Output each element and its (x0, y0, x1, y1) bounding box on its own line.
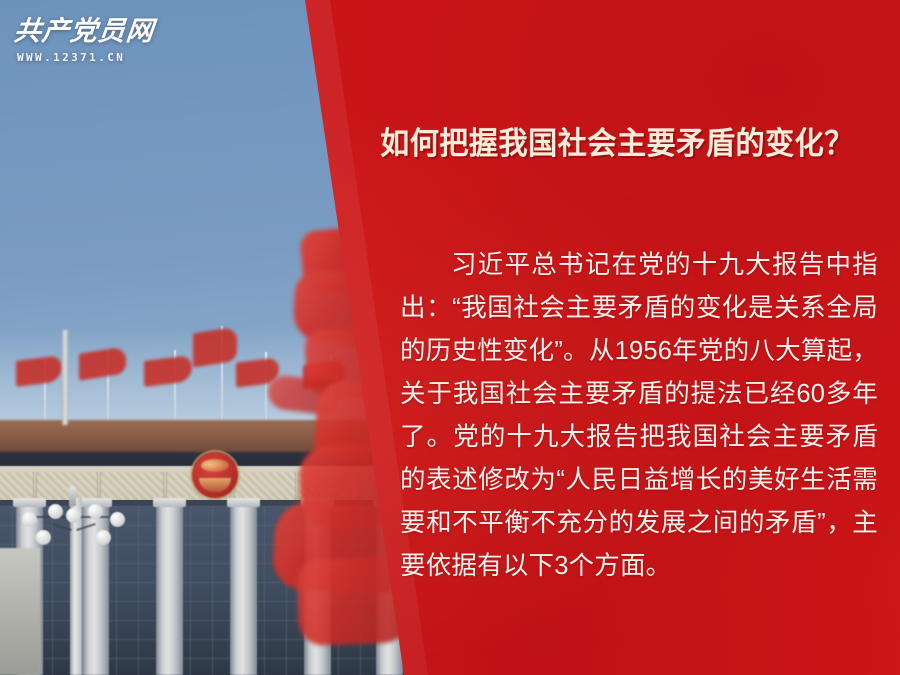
street-lamp-icon (22, 496, 132, 546)
site-logo-name: 共产党员网 (13, 18, 156, 45)
building-podium (0, 548, 40, 675)
site-logo[interactable]: 共产党员网 WWW.12371.CN (14, 18, 154, 63)
poster-canvas: 共产党员网 WWW.12371.CN 如何把握我国社会主要矛盾的变化？ 习近平总… (0, 0, 900, 675)
site-logo-url: WWW.12371.CN (17, 52, 154, 63)
page-title: 如何把握我国社会主要矛盾的变化？ (368, 125, 866, 162)
large-flagpole (62, 330, 68, 425)
body-paragraph: 习近平总书记在党的十九大报告中指出：“我国社会主要矛盾的变化是关系全局的历史性变… (400, 244, 878, 588)
national-emblem-icon (192, 452, 238, 498)
stone-column (156, 498, 183, 675)
stone-column (230, 498, 257, 675)
